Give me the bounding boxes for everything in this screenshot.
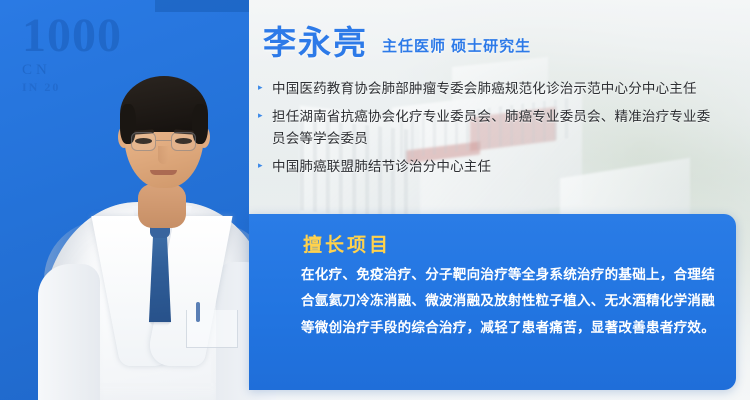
credential-text: 中国肺癌联盟肺结节诊治分中心主任 — [272, 156, 491, 178]
profile-content: 李永亮 主任医师 硕士研究生 ▸ 中国医药教育协会肺部肿瘤专委会肺癌规范化诊治示… — [0, 0, 750, 400]
credential-text: 担任湖南省抗癌协会化疗专业委员会、肺癌专业委员会、精准治疗专业委 — [272, 106, 710, 128]
bullet-arrow-icon: ▸ — [258, 78, 272, 92]
list-item: ▸ 担任湖南省抗癌协会化疗专业委员会、肺癌专业委员会、精准治疗专业委 — [258, 106, 744, 128]
bullet-arrow-icon: ▸ — [258, 156, 272, 170]
credentials-list: ▸ 中国医药教育协会肺部肿瘤专委会肺癌规范化诊治示范中心分中心主任 ▸ 担任湖南… — [258, 78, 744, 183]
list-item: ▸ 中国肺癌联盟肺结节诊治分中心主任 — [258, 156, 744, 178]
doctor-title: 主任医师 硕士研究生 — [382, 35, 531, 59]
doctor-profile-banner: 1000 CN IN 20 — [0, 0, 750, 400]
credential-text: 员会等学会委员 — [272, 128, 368, 150]
doctor-name-row: 李永亮 主任医师 硕士研究生 — [263, 26, 531, 59]
doctor-name: 李永亮 — [263, 26, 368, 59]
expertise-heading: 擅长项目 — [303, 230, 391, 257]
list-item: ▸ 中国医药教育协会肺部肿瘤专委会肺癌规范化诊治示范中心分中心主任 — [258, 78, 744, 100]
bullet-arrow-icon: ▸ — [258, 106, 272, 120]
expertise-panel: 擅长项目 在化疗、免疫治疗、分子靶向治疗等全身系统治疗的基础上，合理结合氩氦刀冷… — [249, 214, 736, 390]
expertise-description: 在化疗、免疫治疗、分子靶向治疗等全身系统治疗的基础上，合理结合氩氦刀冷冻消融、微… — [301, 262, 715, 341]
credential-text: 中国医药教育协会肺部肿瘤专委会肺癌规范化诊治示范中心分中心主任 — [272, 78, 697, 100]
list-item: ▸ 员会等学会委员 — [258, 128, 744, 150]
